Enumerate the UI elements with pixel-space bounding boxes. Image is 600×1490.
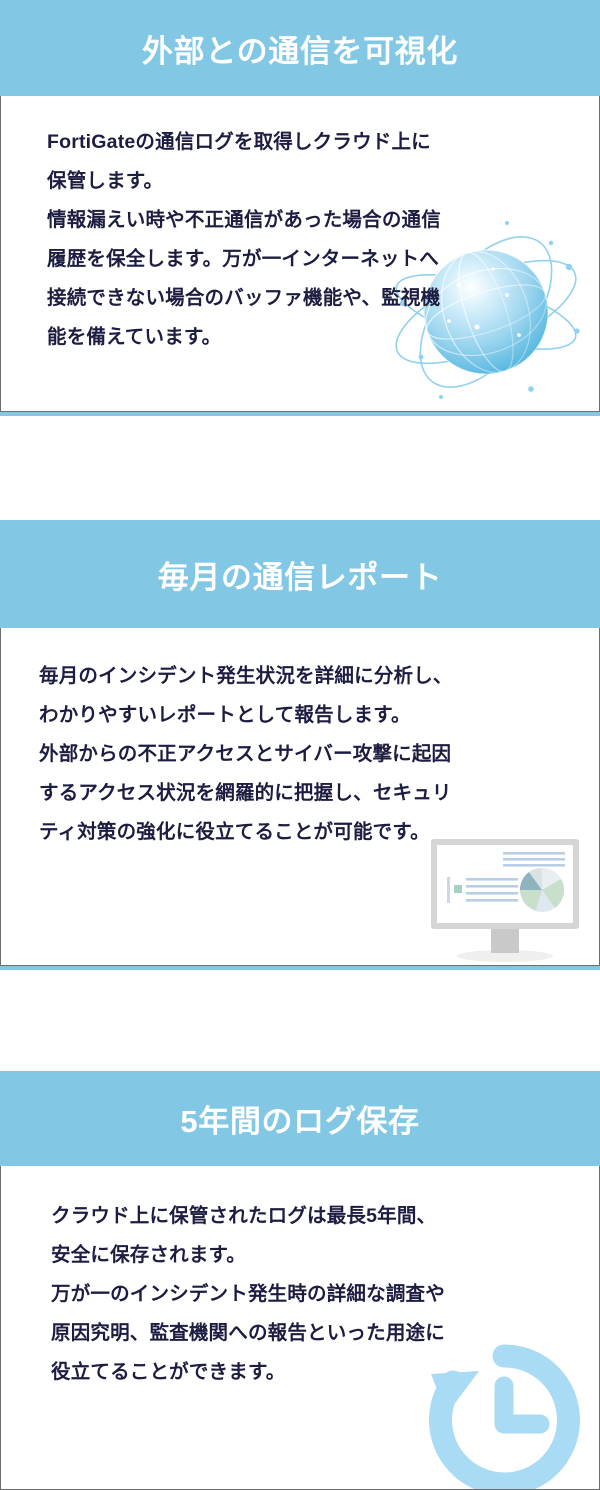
feature-cards-page: 外部との通信を可視化 [0, 0, 600, 1490]
card-retention-title: 5年間のログ保存 [0, 1071, 600, 1166]
card-retention: 5年間のログ保存 クラウド上に保管されたログは最長5年間、 安全に保存されます。… [0, 1071, 600, 1490]
card-visualize-body: FortiGateの通信ログを取得しクラウド上に 保管します。 情報漏えい時や不… [0, 96, 600, 412]
card-retention-body: クラウド上に保管されたログは最長5年間、 安全に保存されます。 万が一のインシデ… [0, 1166, 600, 1490]
card-report-title: 毎月の通信レポート [0, 520, 600, 628]
card-report-accent-line [0, 966, 600, 970]
card-report: 毎月の通信レポート [0, 520, 600, 970]
monitor-report-icon [425, 835, 585, 963]
card-visualize: 外部との通信を可視化 [0, 0, 600, 416]
card-report-description: 毎月のインシデント発生状況を詳細に分析し、 わかりやすいレポートとして報告します… [1, 628, 599, 852]
card-visualize-description: FortiGateの通信ログを取得しクラウド上に 保管します。 情報漏えい時や不… [1, 96, 599, 357]
card-visualize-accent-line [0, 412, 600, 416]
card-visualize-title: 外部との通信を可視化 [0, 0, 600, 96]
card-retention-description: クラウド上に保管されたログは最長5年間、 安全に保存されます。 万が一のインシデ… [1, 1166, 599, 1392]
card-report-body: 毎月のインシデント発生状況を詳細に分析し、 わかりやすいレポートとして報告します… [0, 628, 600, 966]
